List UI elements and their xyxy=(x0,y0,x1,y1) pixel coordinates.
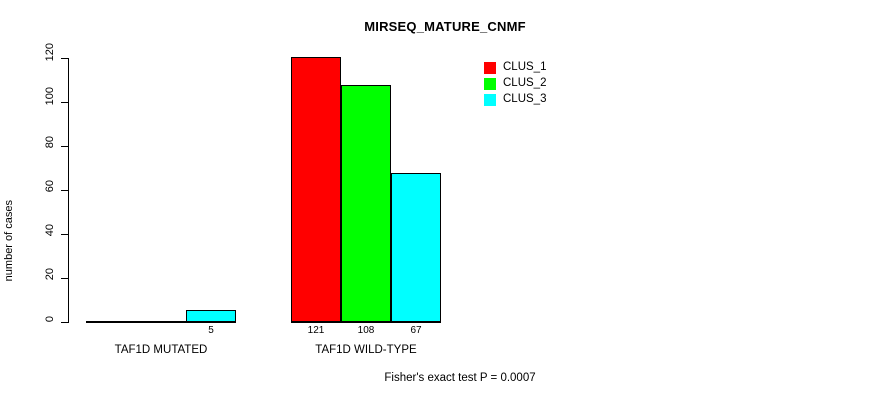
y-tick-100 xyxy=(61,102,68,103)
group-label-taf1d-wild-type: TAF1D WILD-TYPE xyxy=(266,344,466,357)
statistical-test-note-text: Fisher's exact test P = 0.0007 xyxy=(384,372,535,384)
bar-value-group2-clus1: 121 xyxy=(291,325,341,336)
y-tick-120 xyxy=(61,58,68,59)
legend-label-clus3: CLUS_3 xyxy=(503,92,546,107)
group-label-taf1d-mutated: TAF1D MUTATED xyxy=(61,344,261,357)
y-tick-80 xyxy=(61,146,68,147)
y-tick-label-80: 80 xyxy=(44,136,56,148)
y-tick-40 xyxy=(61,234,68,235)
legend-swatch-clus1-icon xyxy=(484,62,496,74)
legend-swatch-clus3-icon xyxy=(484,94,496,106)
chart-root: MIRSEQ_MATURE_CNMF 0 20 40 60 80 100 xyxy=(0,0,890,400)
y-tick-0 xyxy=(61,322,68,323)
bar-group2-clus3[interactable] xyxy=(391,173,441,322)
legend-swatch-clus2-icon xyxy=(484,78,496,90)
y-tick-60 xyxy=(61,190,68,191)
legend-label-clus1: CLUS_1 xyxy=(503,60,546,75)
bar-value-group2-clus2: 108 xyxy=(341,325,391,336)
y-axis-title: number of cases xyxy=(3,200,15,281)
y-axis-line xyxy=(68,58,69,323)
y-tick-label-40: 40 xyxy=(44,224,56,236)
bar-group2-clus2[interactable] xyxy=(341,85,391,322)
plot-area: 0 20 40 60 80 100 120 number of cases xyxy=(0,0,890,400)
y-tick-label-120: 120 xyxy=(44,43,56,61)
y-tick-20 xyxy=(61,278,68,279)
bar-group1-clus3[interactable] xyxy=(186,310,236,322)
y-tick-label-20: 20 xyxy=(44,268,56,280)
y-tick-label-60: 60 xyxy=(44,180,56,192)
statistical-test-note: Fisher's exact test P = 0.0007 xyxy=(0,372,890,384)
y-tick-label-100: 100 xyxy=(44,87,56,105)
bar-value-group1-clus3: 5 xyxy=(186,325,236,336)
bar-value-group2-clus3: 67 xyxy=(391,325,441,336)
y-tick-label-0: 0 xyxy=(44,316,56,322)
legend-label-clus2: CLUS_2 xyxy=(503,76,546,91)
bar-group2-clus1[interactable] xyxy=(291,57,341,322)
